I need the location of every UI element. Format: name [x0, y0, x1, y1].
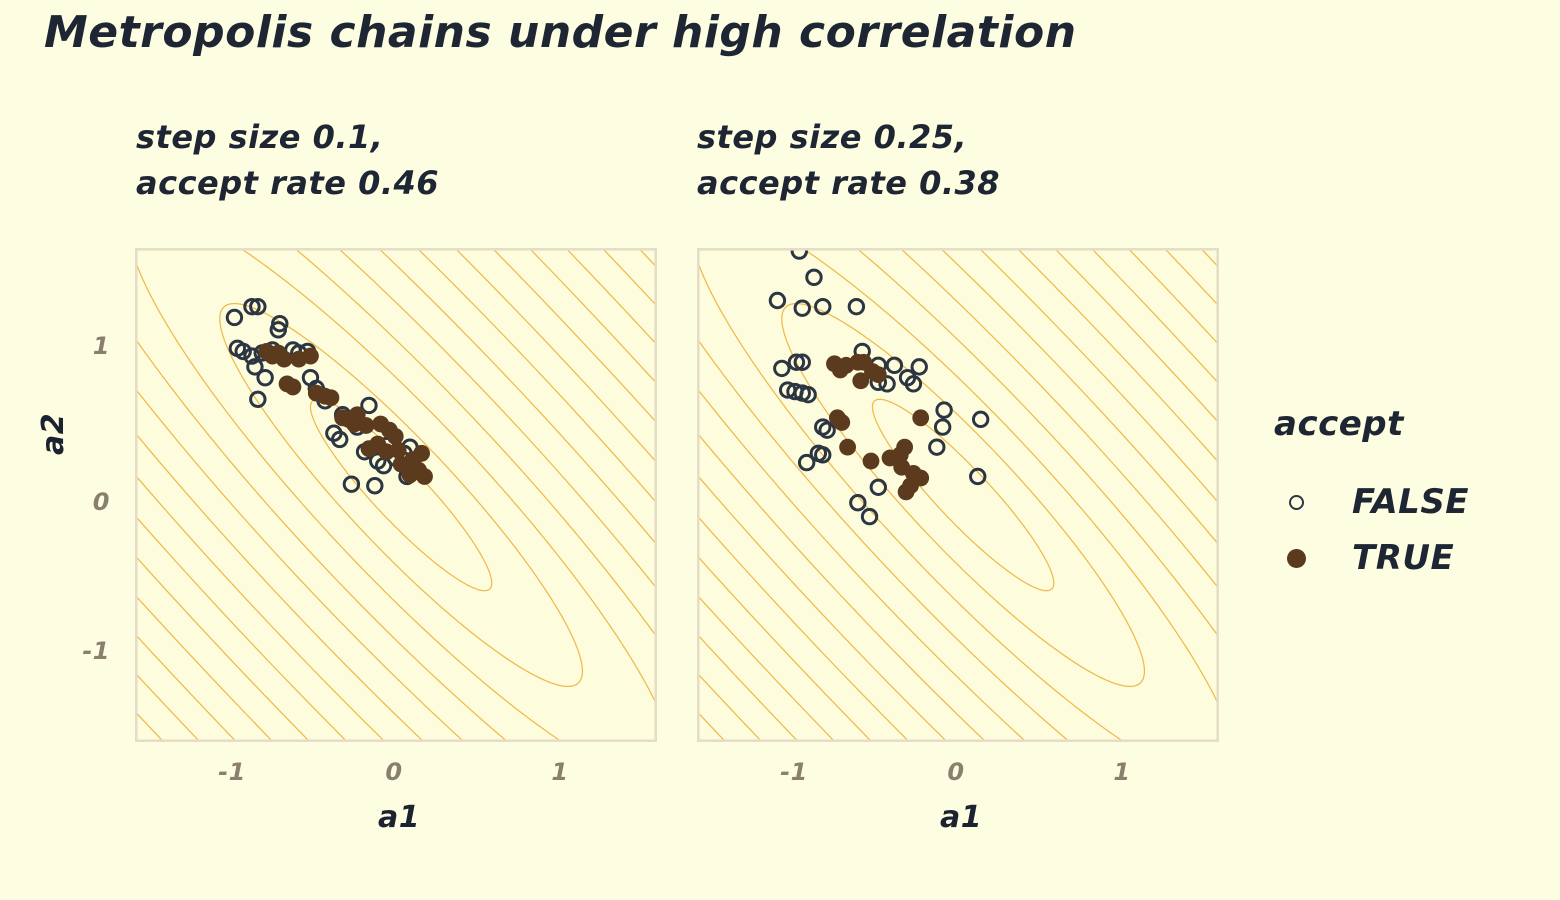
data-point-true [416, 468, 433, 485]
y-tick-label: -1 [60, 637, 110, 665]
data-point-true [285, 379, 302, 396]
page-title: Metropolis chains under high correlation [44, 8, 1077, 59]
data-point-true [912, 409, 929, 426]
x-tick-label: 0 [367, 758, 421, 786]
legend-item-true[interactable]: TRUE [1268, 530, 1548, 586]
filled-circle-icon [1268, 549, 1324, 568]
x-axis-title: a1 [940, 800, 982, 835]
y-axis-title: a2 [36, 413, 71, 455]
legend-item-label: TRUE [1324, 538, 1454, 578]
plot-panel-right [697, 248, 1219, 742]
data-point-true [390, 442, 407, 459]
open-circle-icon [1268, 495, 1324, 510]
y-tick-label: 1 [60, 332, 110, 360]
x-tick-label: 1 [533, 758, 587, 786]
data-point-true [833, 414, 850, 431]
legend-title: accept [1268, 404, 1548, 444]
x-tick-label: -1 [205, 758, 259, 786]
data-point-true [839, 439, 856, 456]
x-tick-label: 1 [1095, 758, 1149, 786]
data-point-true [413, 445, 430, 462]
legend: accept FALSE TRUE [1268, 404, 1548, 586]
legend-item-label: FALSE [1324, 482, 1469, 522]
facet-label-right: step size 0.25, accept rate 0.38 [697, 114, 1000, 207]
legend-item-false[interactable]: FALSE [1268, 474, 1548, 530]
data-point-true [863, 453, 880, 470]
data-point-true [896, 439, 913, 456]
x-tick-label: -1 [767, 758, 821, 786]
data-point-true [870, 366, 887, 383]
data-point-true [302, 348, 319, 365]
x-axis-title: a1 [378, 800, 420, 835]
x-tick-label: 0 [929, 758, 983, 786]
chart-root: Metropolis chains under high correlation… [0, 0, 1560, 900]
plot-panel-left [135, 248, 657, 742]
data-point-true [358, 417, 375, 434]
data-point-true [276, 351, 293, 368]
facet-label-left: step size 0.1, accept rate 0.46 [136, 114, 439, 207]
y-tick-label: 0 [60, 488, 110, 516]
data-point-true [902, 477, 919, 494]
data-point-true [387, 428, 404, 445]
data-point-true [323, 389, 340, 406]
